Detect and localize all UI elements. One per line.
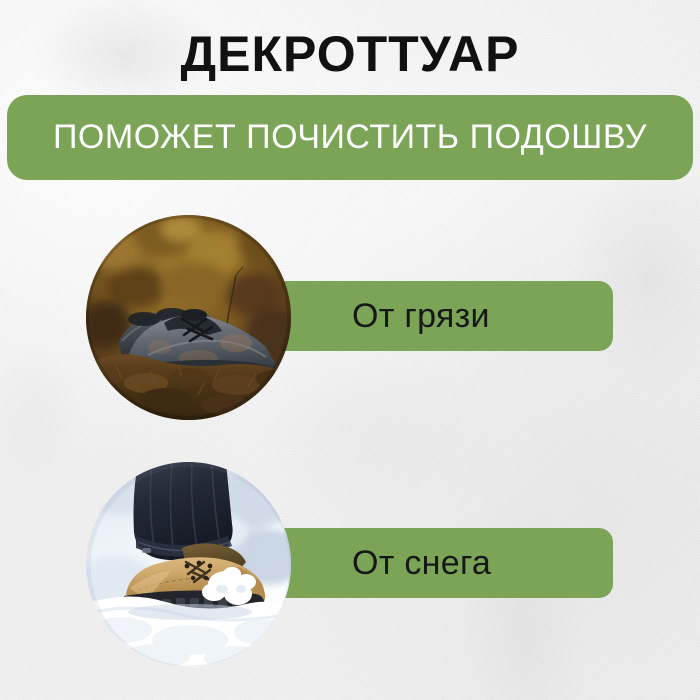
headline-banner: ПОМОЖЕТ ПОЧИСТИТЬ ПОДОШВУ	[7, 95, 693, 180]
feature-label-mud: От грязи	[352, 297, 490, 336]
snow-boot-photo	[86, 462, 291, 667]
feature-label-snow: От снега	[352, 544, 491, 583]
headline-banner-text: ПОМОЖЕТ ПОЧИСТИТЬ ПОДОШВУ	[53, 118, 647, 157]
product-poster: ДЕКРОТТУАР ПОМОЖЕТ ПОЧИСТИТЬ ПОДОШВУ От …	[0, 0, 700, 700]
page-title: ДЕКРОТТУАР	[0, 28, 700, 80]
muddy-shoes-photo	[86, 215, 291, 420]
